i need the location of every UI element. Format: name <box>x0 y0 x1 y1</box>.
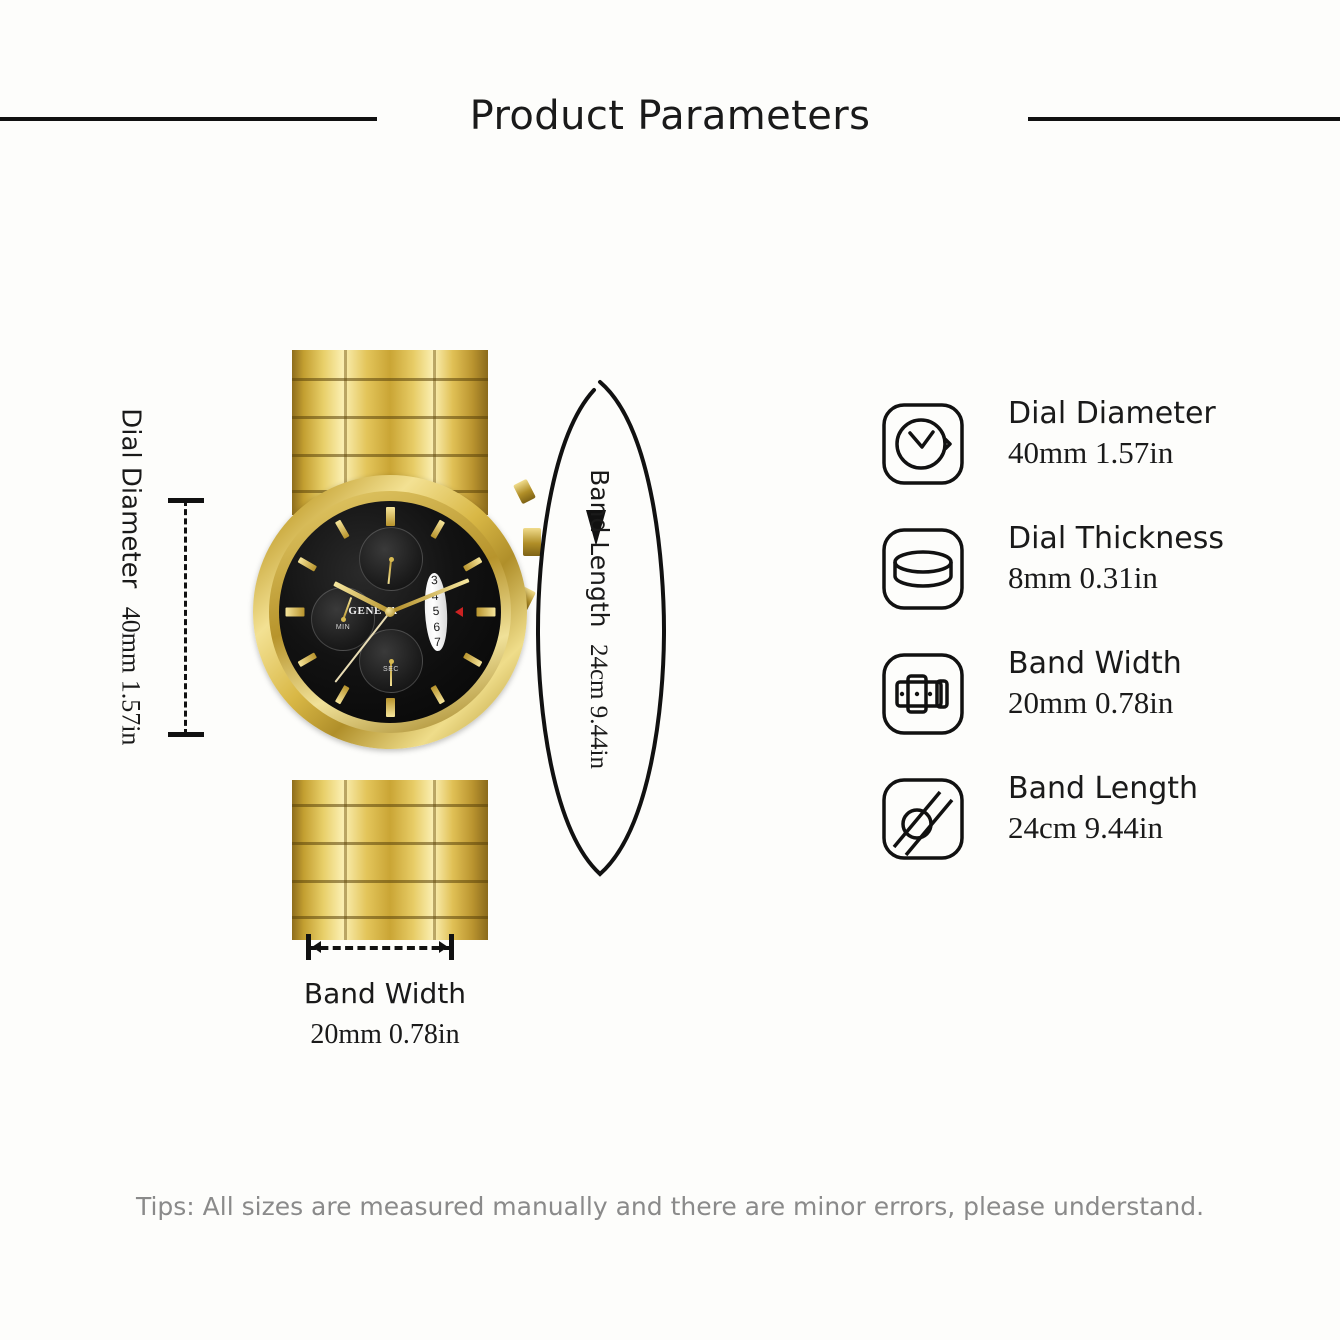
hour-marker <box>463 652 482 667</box>
watch-clasp-icon <box>880 651 966 737</box>
watch-dial: MIN SEC GENEVA 3 4 5 6 7 <box>279 501 501 723</box>
dial-diameter-dimension-text: Dial Diameter 40mm 1.57in <box>114 408 147 688</box>
spec-label-dial-thickness: Dial Thickness <box>1008 520 1224 558</box>
hour-marker <box>463 557 482 572</box>
subdial-minutes-label: MIN <box>312 624 374 631</box>
hour-marker <box>430 685 445 704</box>
hour-marker <box>430 520 445 539</box>
dial-diameter-dimension-value: 40mm 1.57in <box>114 607 147 746</box>
date-digit: 6 <box>425 619 448 636</box>
date-digit: 3 <box>423 572 446 589</box>
subdial-pin <box>389 557 394 562</box>
dimension-line-horizontal <box>308 946 452 950</box>
page-title: Product Parameters <box>0 93 1340 139</box>
subdial-seconds-label: SEC <box>360 666 422 673</box>
spec-value-band-length: 24cm 9.44in <box>1008 808 1198 848</box>
dial-diameter-dimension: Dial Diameter 40mm 1.57in <box>60 480 200 760</box>
band-width-dimension: Band Width 20mm 0.78in <box>230 930 540 1052</box>
disc-thickness-icon <box>880 526 966 612</box>
band-width-dimension-label: Band Width <box>230 976 540 1011</box>
bracelet-seam <box>292 454 488 457</box>
spec-value-dial-diameter: 40mm 1.57in <box>1008 433 1216 473</box>
band-length-dimension-value: 24cm 9.44in <box>583 644 614 769</box>
spec-row-dial-diameter: Dial Diameter 40mm 1.57in <box>880 395 1280 520</box>
bracelet-seam <box>292 842 488 845</box>
spec-label-band-width: Band Width <box>1008 645 1182 683</box>
dimension-cap-right <box>449 934 454 960</box>
watch-bracelet-lower <box>292 780 488 940</box>
footer-tips: Tips: All sizes are measured manually an… <box>0 1192 1340 1221</box>
hour-marker <box>335 685 350 704</box>
spec-label-band-length: Band Length <box>1008 770 1198 808</box>
band-length-dimension-text: Band Length 24cm 9.44in <box>583 469 615 759</box>
bracelet-seam <box>292 378 488 381</box>
hour-marker <box>285 608 304 617</box>
date-window: 3 4 5 6 7 <box>423 572 449 651</box>
watch-strap-icon <box>880 776 966 862</box>
watch-dial-icon <box>880 401 966 487</box>
bracelet-seam <box>292 880 488 883</box>
bracelet-seam <box>292 416 488 419</box>
hour-marker <box>476 608 495 617</box>
dial-diameter-dimension-label: Dial Diameter <box>114 408 147 588</box>
band-length-dimension: Band Length 24cm 9.44in <box>530 368 670 888</box>
specification-list: Dial Diameter 40mm 1.57in Dial Thickness… <box>880 395 1280 895</box>
hour-marker <box>386 698 395 717</box>
subdial-hand <box>387 560 391 584</box>
spec-value-dial-thickness: 8mm 0.31in <box>1008 558 1224 598</box>
dimension-arrow-right-icon <box>439 941 448 953</box>
bracelet-seam <box>292 916 488 919</box>
page-header: Product Parameters <box>0 0 1340 180</box>
spec-text-dial-thickness: Dial Thickness 8mm 0.31in <box>1008 520 1224 598</box>
bracelet-seam <box>292 804 488 807</box>
spec-label-dial-diameter: Dial Diameter <box>1008 395 1216 433</box>
hour-marker <box>298 652 317 667</box>
hands-pin <box>385 607 395 617</box>
date-marker-icon <box>455 607 463 617</box>
hour-marker <box>335 520 350 539</box>
band-width-dimension-line <box>230 930 540 964</box>
subdial-top <box>359 527 423 591</box>
spec-row-dial-thickness: Dial Thickness 8mm 0.31in <box>880 520 1280 645</box>
hour-marker <box>386 507 395 526</box>
date-digit: 7 <box>426 635 449 652</box>
watch-product-image: MIN SEC GENEVA 3 4 5 6 7 <box>245 350 535 940</box>
spec-value-band-width: 20mm 0.78in <box>1008 683 1182 723</box>
subdial-pin <box>389 659 394 664</box>
band-length-dimension-label: Band Length <box>584 469 615 627</box>
spec-text-band-width: Band Width 20mm 0.78in <box>1008 645 1182 723</box>
spec-row-band-width: Band Width 20mm 0.78in <box>880 645 1280 770</box>
title-rule-right <box>1028 117 1340 121</box>
band-width-dimension-value: 20mm 0.78in <box>230 1017 540 1052</box>
spec-text-band-length: Band Length 24cm 9.44in <box>1008 770 1198 848</box>
dimension-line-vertical <box>184 500 187 735</box>
hour-marker <box>298 557 317 572</box>
subdial-pin <box>341 617 346 622</box>
band-width-dimension-text: Band Width 20mm 0.78in <box>230 976 540 1052</box>
dimension-cap-bottom <box>168 732 204 737</box>
date-digit: 5 <box>425 604 448 621</box>
spec-text-dial-diameter: Dial Diameter 40mm 1.57in <box>1008 395 1216 473</box>
watch-case: MIN SEC GENEVA 3 4 5 6 7 <box>253 475 527 749</box>
spec-row-band-length: Band Length 24cm 9.44in <box>880 770 1280 895</box>
